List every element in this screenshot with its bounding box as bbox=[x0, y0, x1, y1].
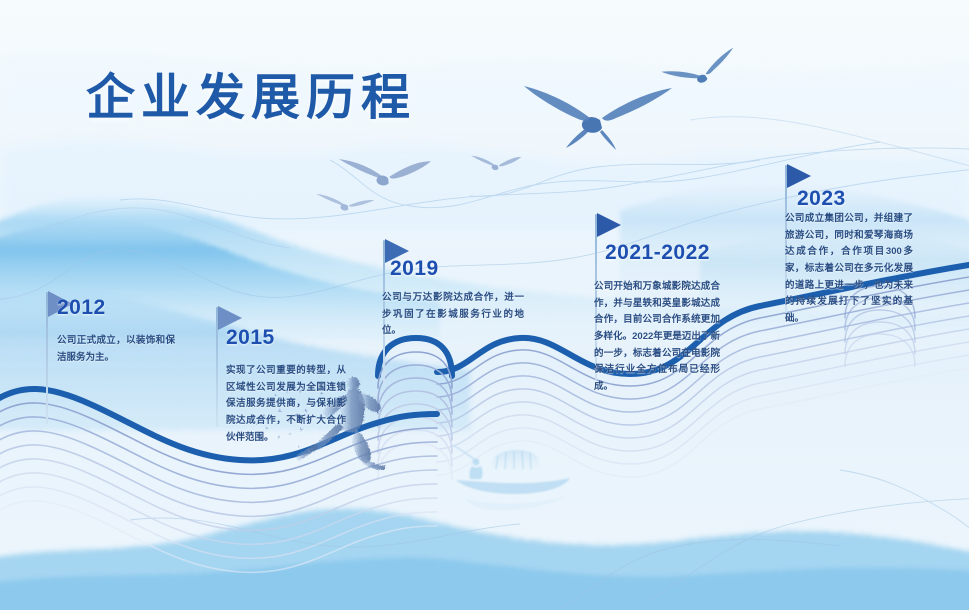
page-title: 企业发展历程 bbox=[86, 58, 416, 129]
milestone-year-2015: 2015 bbox=[226, 326, 275, 350]
milestone-year-2021-2022: 2021-2022 bbox=[605, 241, 710, 265]
milestone-desc-2021-2022: 公司开始和万象城影院达成合作，并与星轶和英皇影城达成合作，目前公司合作系统更加多… bbox=[594, 279, 720, 395]
milestone-desc-2012: 公司正式成立，以装饰和保洁服务为主。 bbox=[57, 333, 175, 366]
milestone-year-2019: 2019 bbox=[390, 257, 439, 281]
timeline-poster: 企业发展历程 2012 公司正式成立，以装饰和保洁服务为主。 2015 实现了公… bbox=[0, 0, 969, 610]
milestone-desc-2019: 公司与万达影院达成合作，进一步巩固了在影城服务行业的地位。 bbox=[382, 290, 524, 340]
milestone-desc-2015: 实现了公司重要的转型，从区域性公司发展为全国连锁保洁服务提供商，与保利影院达成合… bbox=[226, 363, 346, 446]
flag-icon-2023 bbox=[787, 164, 811, 188]
milestone-year-2012: 2012 bbox=[57, 296, 106, 320]
fishing-boat bbox=[454, 446, 570, 510]
milestone-year-2023: 2023 bbox=[797, 187, 846, 211]
milestone-desc-2023: 公司成立集团公司，并组建了旅游公司，同时和爱琴海商场达成合作，合作项目300多家… bbox=[785, 211, 913, 327]
flag-icon-2021-2022 bbox=[597, 213, 621, 237]
